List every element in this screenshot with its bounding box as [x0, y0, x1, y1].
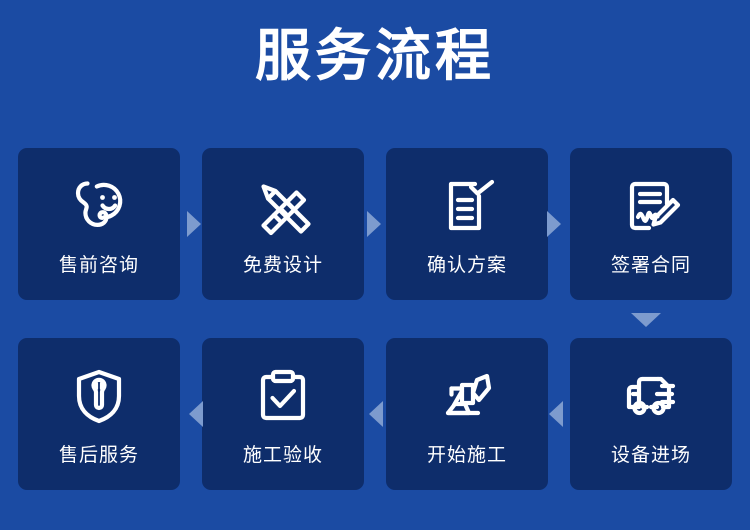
clipboard-check-icon [247, 360, 319, 432]
arrow-left-icon [549, 401, 563, 427]
flow-step-start-construction[interactable]: 开始施工 [386, 338, 548, 490]
arrow-left-icon [189, 401, 203, 427]
arrow-left-icon [369, 401, 383, 427]
delivery-truck-icon [615, 360, 687, 432]
shield-wrench-icon [63, 360, 135, 432]
flow-step-pre-sales-consultation[interactable]: 售前咨询 [18, 148, 180, 300]
flow-step-label: 设备进场 [611, 444, 691, 468]
flow-step-label: 施工验收 [243, 444, 323, 468]
service-process-banner: 服务流程 售前咨询 [0, 0, 750, 530]
phone-smile-icon [63, 170, 135, 242]
arrow-right-icon [547, 211, 561, 237]
flow-step-construction-acceptance[interactable]: 施工验收 [202, 338, 364, 490]
flow-step-free-design[interactable]: 免费设计 [202, 148, 364, 300]
contract-signature-icon [615, 170, 687, 242]
flow-step-equipment-entry[interactable]: 设备进场 [570, 338, 732, 490]
flow-step-label: 开始施工 [427, 444, 507, 468]
flow-step-sign-contract[interactable]: 签署合同 [570, 148, 732, 300]
flow-step-label: 确认方案 [427, 254, 507, 278]
excavator-icon [431, 360, 503, 432]
document-check-icon [431, 170, 503, 242]
flow-step-confirm-plan[interactable]: 确认方案 [386, 148, 548, 300]
arrow-down-icon [631, 313, 661, 327]
flow-step-label: 售后服务 [59, 444, 139, 468]
page-title: 服务流程 [0, 22, 750, 90]
pencil-ruler-icon [247, 170, 319, 242]
flow-step-label: 签署合同 [611, 254, 691, 278]
arrow-right-icon [367, 211, 381, 237]
flow-step-after-sales-service[interactable]: 售后服务 [18, 338, 180, 490]
flow-step-label: 免费设计 [243, 254, 323, 278]
arrow-right-icon [187, 211, 201, 237]
flow-step-label: 售前咨询 [59, 254, 139, 278]
